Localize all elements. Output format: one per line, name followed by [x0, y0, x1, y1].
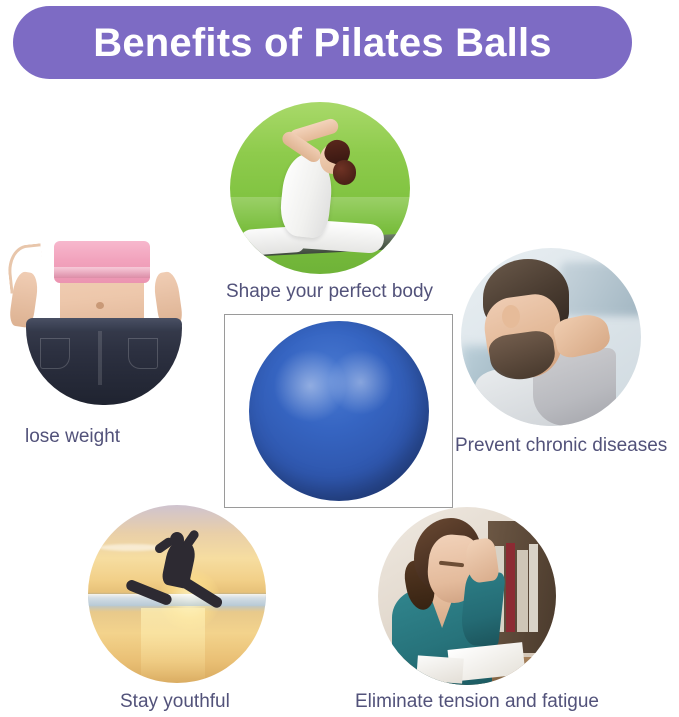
- fatigue-book: [506, 543, 515, 632]
- benefit-caption-lose-weight: lose weight: [25, 426, 120, 448]
- loseweight-navel: [96, 302, 104, 309]
- loseweight-jeans-pocket-left: [40, 338, 70, 369]
- sunset-water-reflection: [141, 608, 205, 683]
- sunset-cloud: [99, 544, 163, 551]
- benefit-caption-stay-youthful: Stay youthful: [120, 691, 230, 713]
- benefit-caption-eliminate-tension-and-fatigue: Eliminate tension and fatigue: [355, 691, 599, 713]
- benefit-image-eliminate-tension-and-fatigue: [378, 507, 556, 685]
- yoga-hair-bun: [333, 160, 356, 184]
- benefit-image-shape-your-perfect-body: [230, 102, 410, 274]
- benefit-image-prevent-chronic-diseases: [461, 248, 641, 426]
- benefit-image-lose-weight: [8, 236, 208, 418]
- blue-pilates-ball: [249, 321, 429, 501]
- loseweight-strap: [8, 243, 45, 293]
- loseweight-jeans-waistband: [26, 318, 182, 331]
- loseweight-jeans-pocket-right: [128, 338, 158, 369]
- header-banner: Benefits of Pilates Balls: [13, 6, 632, 79]
- neckpain-background-blur-top: [560, 262, 641, 315]
- benefit-caption-shape-your-perfect-body: Shape your perfect body: [226, 281, 433, 303]
- benefit-caption-prevent-chronic-diseases: Prevent chronic diseases: [455, 435, 667, 457]
- sunset-jumper-head: [170, 532, 184, 548]
- fatigue-book: [517, 550, 528, 632]
- loseweight-jeans-seam: [98, 331, 102, 386]
- fatigue-book: [529, 544, 538, 631]
- fatigue-paper: [416, 655, 464, 683]
- sunset-surf-line: [88, 594, 266, 606]
- product-image-frame: [224, 314, 453, 508]
- benefit-image-stay-youthful: [88, 505, 266, 683]
- page-title: Benefits of Pilates Balls: [93, 23, 551, 63]
- loseweight-pink-fold: [54, 267, 150, 278]
